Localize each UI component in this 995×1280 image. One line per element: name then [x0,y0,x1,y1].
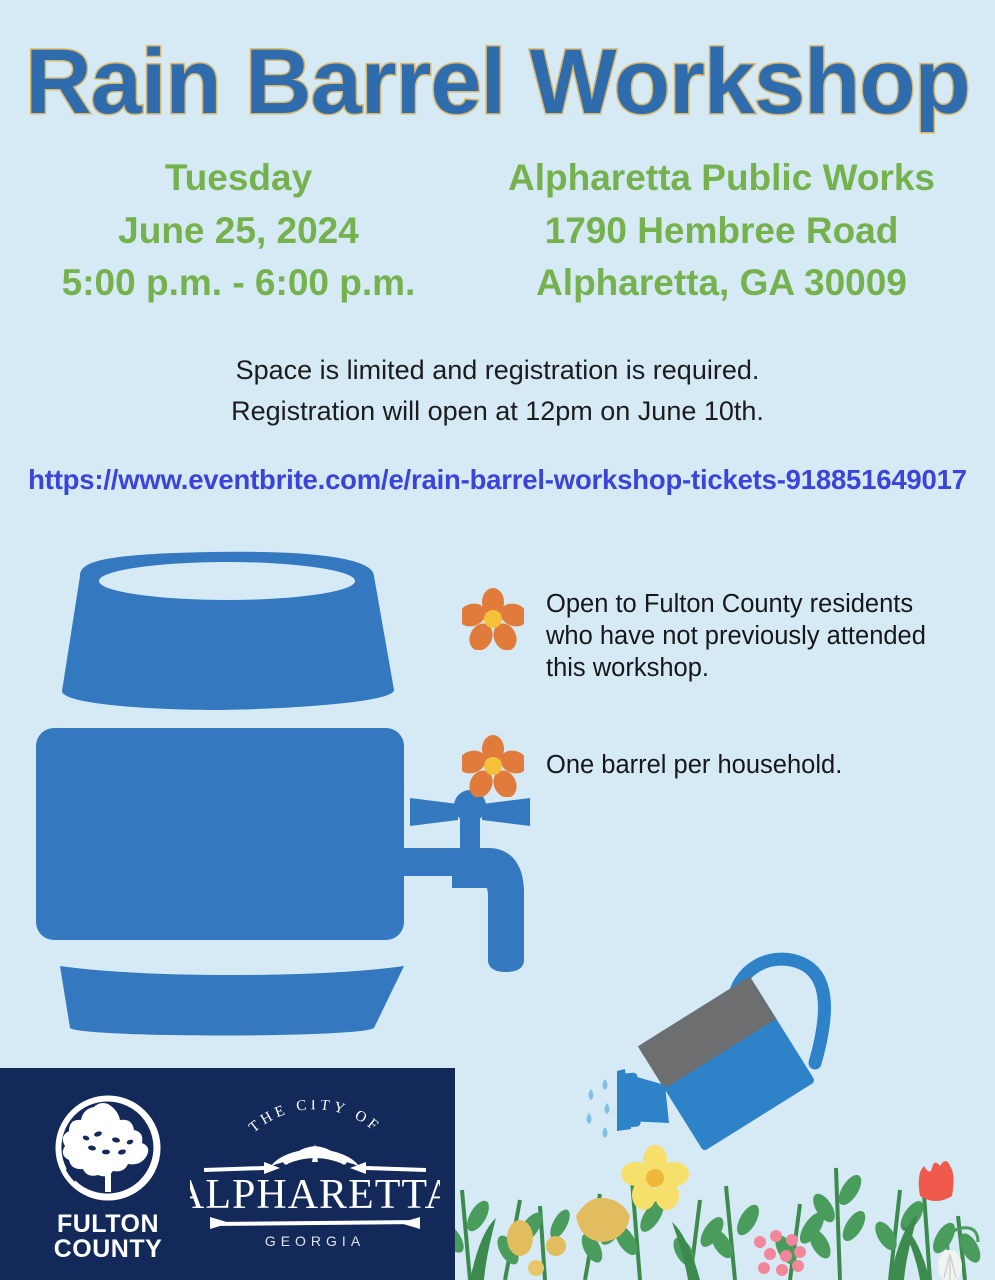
alpharetta-city-logo-icon: THE CITY OF [190,1100,440,1250]
alpharetta-city-logo: THE CITY OF [190,1100,440,1250]
fulton-county-logo: FULTON COUNTY [38,1090,178,1260]
bullet-line-1: One barrel per household. [546,749,842,781]
event-location-block: Alpharetta Public Works 1790 Hembree Roa… [487,152,957,310]
event-street: 1790 Hembree Road [487,205,957,258]
page-title: Rain Barrel Workshop [0,34,995,131]
flower-icon [462,735,524,797]
bullet-text-eligibility: Open to Fulton County residents who have… [546,588,926,684]
bullet-line-1: Open to Fulton County residents [546,588,926,620]
alpharetta-top-text: THE CITY OF [246,1100,384,1136]
registration-link[interactable]: https://www.eventbrite.com/e/rain-barrel… [0,464,995,496]
event-city-state-zip: Alpharetta, GA 30009 [487,257,957,310]
registration-note-line-2: Registration will open at 12pm on June 1… [0,391,995,432]
event-time: 5:00 p.m. - 6:00 p.m. [39,257,439,310]
svg-text:THE CITY OF: THE CITY OF [246,1100,384,1136]
registration-note-line-1: Space is limited and registration is req… [0,350,995,391]
event-venue: Alpharetta Public Works [487,152,957,205]
event-date: June 25, 2024 [39,205,439,258]
fulton-county-tree-logo-icon [48,1090,168,1208]
poster: Rain Barrel Workshop Tuesday June 25, 20… [0,0,995,1280]
fulton-county-label: FULTON COUNTY [38,1212,178,1262]
bullet-line-2: who have not previously attended [546,620,926,652]
bullet-line-3: this workshop. [546,652,926,684]
event-date-block: Tuesday June 25, 2024 5:00 p.m. - 6:00 p… [39,152,439,310]
fulton-line-1: FULTON [38,1212,178,1237]
event-info: Tuesday June 25, 2024 5:00 p.m. - 6:00 p… [0,152,995,310]
flower-icon [462,588,524,650]
alpharetta-state-text: GEORGIA [265,1233,365,1249]
alpharetta-name-text: ALPHARETTA [190,1172,440,1218]
fulton-line-2: COUNTY [38,1237,178,1262]
logo-panel: FULTON COUNTY THE CITY OF [0,1068,455,1280]
bullet-item-eligibility: Open to Fulton County residents who have… [462,588,962,684]
bullet-text-limit: One barrel per household. [546,735,842,781]
event-day: Tuesday [39,152,439,205]
registration-note: Space is limited and registration is req… [0,350,995,432]
bullet-item-limit: One barrel per household. [462,735,932,797]
